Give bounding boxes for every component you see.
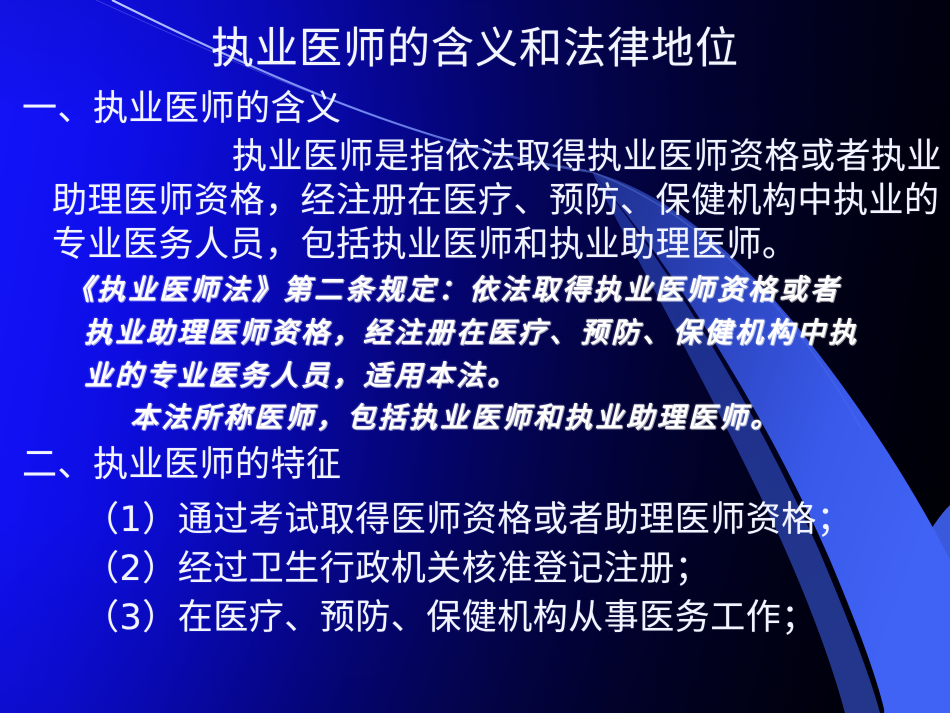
slide-title: 执业医师的含义和法律地位 [0,28,950,71]
line-law-quote-2: 执业助理医师资格，经注册在医疗、预防、保健机构中执 [84,319,859,347]
line-characteristic-3: （3）在医疗、预防、保健机构从事医务工作； [84,601,817,636]
slide-text-content: 执业医师的含义和法律地位 一、执业医师的含义 执业医师是指依法取得执业医师资格或… [0,0,950,713]
line-definition-1: 执业医师是指依法取得执业医师资格或者执业 [232,140,942,175]
line-definition-2: 助理医师资格，经注册在医疗、预防、保健机构中执业的 [52,184,940,219]
presentation-slide: 执业医师的含义和法律地位 一、执业医师的含义 执业医师是指依法取得执业医师资格或… [0,0,950,713]
line-law-quote-3: 业的专业医务人员，适用本法。 [84,362,518,390]
line-definition-3: 专业医务人员，包括执业医师和执业助理医师。 [52,228,798,263]
line-law-quote-4: 本法所称医师，包括执业医师和执业助理医师。 [130,404,781,432]
line-section-two-heading: 二、执业医师的特征 [22,448,342,483]
line-section-one-heading: 一、执业医师的含义 [22,92,342,127]
line-characteristic-2: （2）经过卫生行政机关核准登记注册； [84,552,710,587]
line-law-quote-1: 《执业医师法》第二条规定：依法取得执业医师资格或者 [66,276,841,304]
line-characteristic-1: （1）通过考试取得医师资格或者助理医师资格； [84,503,852,538]
